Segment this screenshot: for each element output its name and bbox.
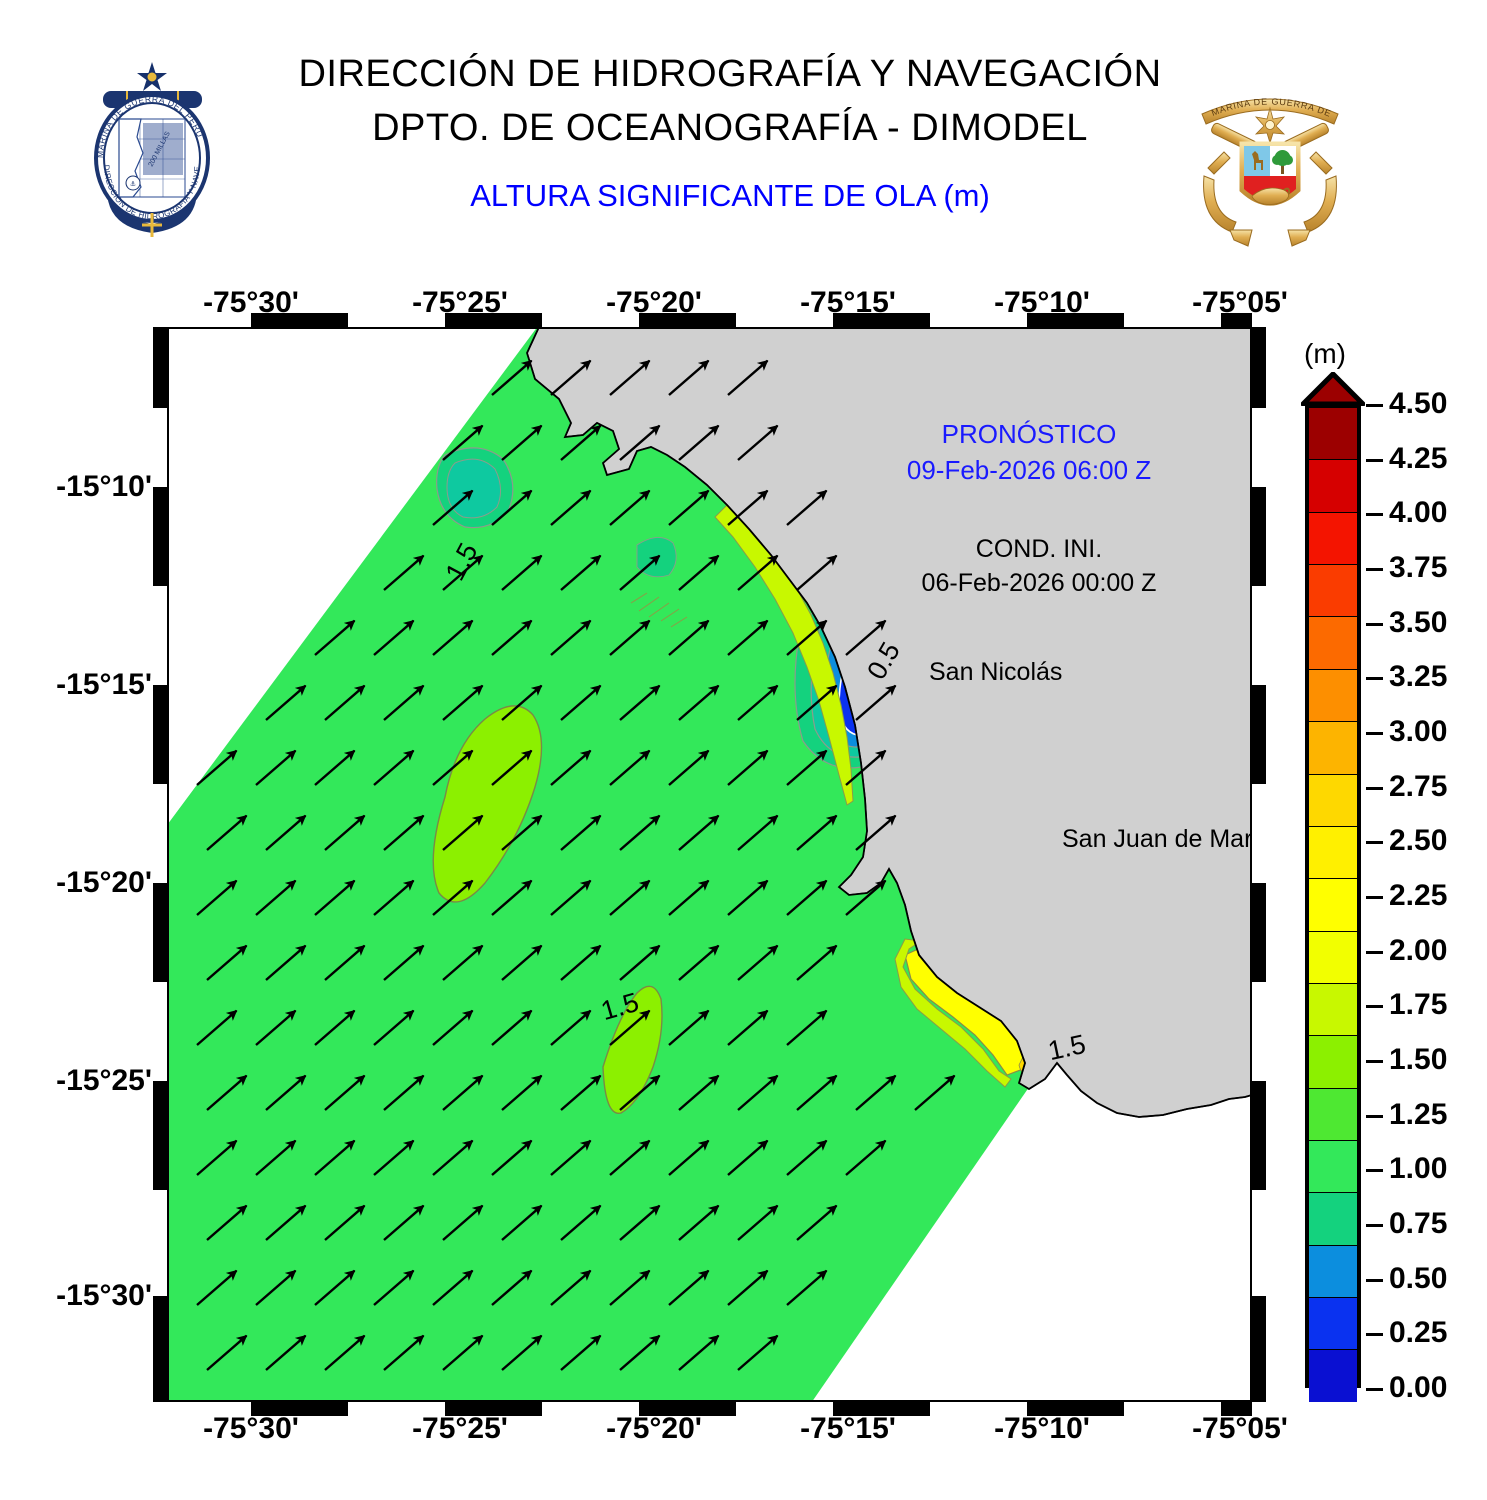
tick-band-h-1-7: [833, 1402, 930, 1416]
tick-band-v-0-0: [153, 327, 167, 408]
colorbar-tick-6: [1366, 732, 1383, 735]
colorbar-tick-label-16: 0.50: [1389, 1262, 1447, 1296]
page-subtitle: ALTURA SIGNIFICANTE DE OLA (m): [230, 178, 1230, 214]
colorbar-tick-4: [1366, 623, 1383, 626]
tick-band-h-0-1: [251, 313, 348, 327]
colorbar-tick-label-13: 1.25: [1389, 1098, 1447, 1132]
tick-band-h-0-7: [833, 313, 930, 327]
colorbar-tick-5: [1366, 677, 1383, 680]
colorbar-tick-2: [1366, 513, 1383, 516]
colorbar-band-8: [1309, 827, 1357, 879]
tick-band-h-1-9: [1027, 1402, 1124, 1416]
place-label-1: San Juan de Marcona: [1062, 825, 1252, 854]
cond-ini-time: 06-Feb-2026 00:00 Z: [922, 569, 1157, 598]
colorbar-tick-label-3: 3.75: [1389, 551, 1447, 585]
colorbar-band-4: [1309, 617, 1357, 669]
tick-band-h-1-1: [251, 1402, 348, 1416]
colorbar-tick-7: [1366, 787, 1383, 790]
colorbar-tick-15: [1366, 1224, 1383, 1227]
lat-label-0: -15°10': [56, 470, 152, 504]
lon-label-lon-bot-3: -75°15': [800, 1412, 896, 1446]
colorbar-band-15: [1309, 1193, 1357, 1245]
colorbar-band-18: [1309, 1350, 1357, 1401]
colorbar-band-14: [1309, 1141, 1357, 1193]
svg-text:⚓: ⚓: [130, 181, 136, 188]
colorbar-band-12: [1309, 1036, 1357, 1088]
title-block: DIRECCIÓN DE HIDROGRAFÍA Y NAVEGACIÓN DP…: [230, 48, 1230, 214]
colorbar-tick-label-12: 1.50: [1389, 1043, 1447, 1077]
peruvian-navy-coat-of-arms: MARINA DE GUERRA DEL PERU: [1190, 80, 1350, 260]
colorbar-band-13: [1309, 1089, 1357, 1141]
colorbar-tick-12: [1366, 1060, 1383, 1063]
tick-band-v-1-6: [1252, 883, 1266, 982]
colorbar-band-3: [1309, 565, 1357, 617]
colorbar-tick-label-15: 0.75: [1389, 1207, 1447, 1241]
colorbar-tick-label-8: 2.50: [1389, 824, 1447, 858]
lon-label-lon-bot-2: -75°20': [606, 1412, 702, 1446]
colorbar-band-0: [1309, 408, 1357, 460]
tick-band-v-1-0: [1252, 327, 1266, 408]
colorbar-tick-label-9: 2.25: [1389, 879, 1447, 913]
colorbar-tick-label-0: 4.50: [1389, 387, 1447, 421]
colorbar-tick-0: [1366, 404, 1383, 407]
colorbar-tick-13: [1366, 1115, 1383, 1118]
colorbar-band-1: [1309, 460, 1357, 512]
forecast-title: PRONÓSTICO: [942, 419, 1117, 450]
lon-label-lon-bot-0: -75°30': [203, 1412, 299, 1446]
colorbar-tick-label-1: 4.25: [1389, 442, 1447, 476]
forecast-time: 09-Feb-2026 06:00 Z: [907, 455, 1151, 486]
colorbar-band-9: [1309, 879, 1357, 931]
colorbar-tick-label-11: 1.75: [1389, 988, 1447, 1022]
colorbar-tick-3: [1366, 568, 1383, 571]
tick-band-h-0-3: [445, 313, 542, 327]
dhn-seal-logo: 200 MILLAS ⚓ MARINA DE GUERRA DEL PERU D…: [85, 55, 220, 250]
colorbar-band-17: [1309, 1298, 1357, 1350]
colorbar-tick-18: [1366, 1388, 1383, 1391]
colorbar-tick-16: [1366, 1279, 1383, 1282]
colorbar-band-10: [1309, 932, 1357, 984]
colorbar-tick-11: [1366, 1005, 1383, 1008]
tick-band-h-1-3: [445, 1402, 542, 1416]
colorbar-tick-label-17: 0.25: [1389, 1316, 1447, 1350]
colorbar-tick-label-7: 2.75: [1389, 770, 1447, 804]
tick-band-h-0-11: [1221, 313, 1252, 327]
colorbar-tick-8: [1366, 841, 1383, 844]
lat-label-2: -15°20': [56, 866, 152, 900]
tick-band-h-0-5: [639, 313, 736, 327]
tick-band-v-0-8: [153, 1081, 167, 1190]
wave-height-map[interactable]: PRONÓSTICO 09-Feb-2026 06:00 Z COND. INI…: [167, 327, 1252, 1402]
colorbar-max-arrow: [1301, 372, 1365, 406]
tick-band-v-1-2: [1252, 487, 1266, 586]
colorbar[interactable]: (m) 4.504.254.003.753.503.253.002.752.50…: [1296, 338, 1486, 1408]
lat-label-1: -15°15': [56, 668, 152, 702]
colorbar-tick-10: [1366, 951, 1383, 954]
colorbar-band-5: [1309, 670, 1357, 722]
page-header: 200 MILLAS ⚓ MARINA DE GUERRA DEL PERU D…: [0, 0, 1487, 270]
lat-label-4: -15°30': [56, 1279, 152, 1313]
lat-label-3: -15°25': [56, 1064, 152, 1098]
tick-band-h-0-9: [1027, 313, 1124, 327]
tick-band-v-0-2: [153, 487, 167, 586]
tick-band-v-0-10: [153, 1296, 167, 1402]
colorbar-unit-label: (m): [1304, 338, 1346, 370]
tick-band-v-1-10: [1252, 1296, 1266, 1402]
colorbar-tick-1: [1366, 459, 1383, 462]
title-line-2: DPTO. DE OCEANOGRAFÍA - DIMODEL: [230, 102, 1230, 156]
colorbar-band-16: [1309, 1246, 1357, 1298]
cond-ini-title: COND. INI.: [976, 535, 1102, 564]
colorbar-band-7: [1309, 775, 1357, 827]
title-line-1: DIRECCIÓN DE HIDROGRAFÍA Y NAVEGACIÓN: [230, 48, 1230, 102]
colorbar-tick-label-18: 0.00: [1389, 1371, 1447, 1405]
tick-band-h-1-11: [1221, 1402, 1252, 1416]
colorbar-tick-17: [1366, 1333, 1383, 1336]
colorbar-band-2: [1309, 513, 1357, 565]
tick-band-v-0-6: [153, 883, 167, 982]
tick-band-h-1-5: [639, 1402, 736, 1416]
tick-band-v-1-8: [1252, 1081, 1266, 1190]
colorbar-bands: [1305, 404, 1361, 1388]
colorbar-tick-label-14: 1.00: [1389, 1152, 1447, 1186]
colorbar-tick-label-6: 3.00: [1389, 715, 1447, 749]
colorbar-tick-label-5: 3.25: [1389, 660, 1447, 694]
colorbar-tick-label-10: 2.00: [1389, 934, 1447, 968]
place-label-0: San Nicolás: [929, 658, 1062, 687]
colorbar-band-11: [1309, 984, 1357, 1036]
lon-label-lon-bot-1: -75°25': [412, 1412, 508, 1446]
tick-band-v-0-4: [153, 685, 167, 784]
colorbar-tick-label-2: 4.00: [1389, 496, 1447, 530]
lon-label-lon-bot-5: -75°05': [1192, 1412, 1288, 1446]
colorbar-tick-14: [1366, 1169, 1383, 1172]
colorbar-tick-9: [1366, 896, 1383, 899]
tick-band-v-1-4: [1252, 685, 1266, 784]
colorbar-tick-label-4: 3.50: [1389, 606, 1447, 640]
lon-label-lon-bot-4: -75°10': [994, 1412, 1090, 1446]
map-canvas[interactable]: [167, 327, 1252, 1402]
colorbar-band-6: [1309, 722, 1357, 774]
